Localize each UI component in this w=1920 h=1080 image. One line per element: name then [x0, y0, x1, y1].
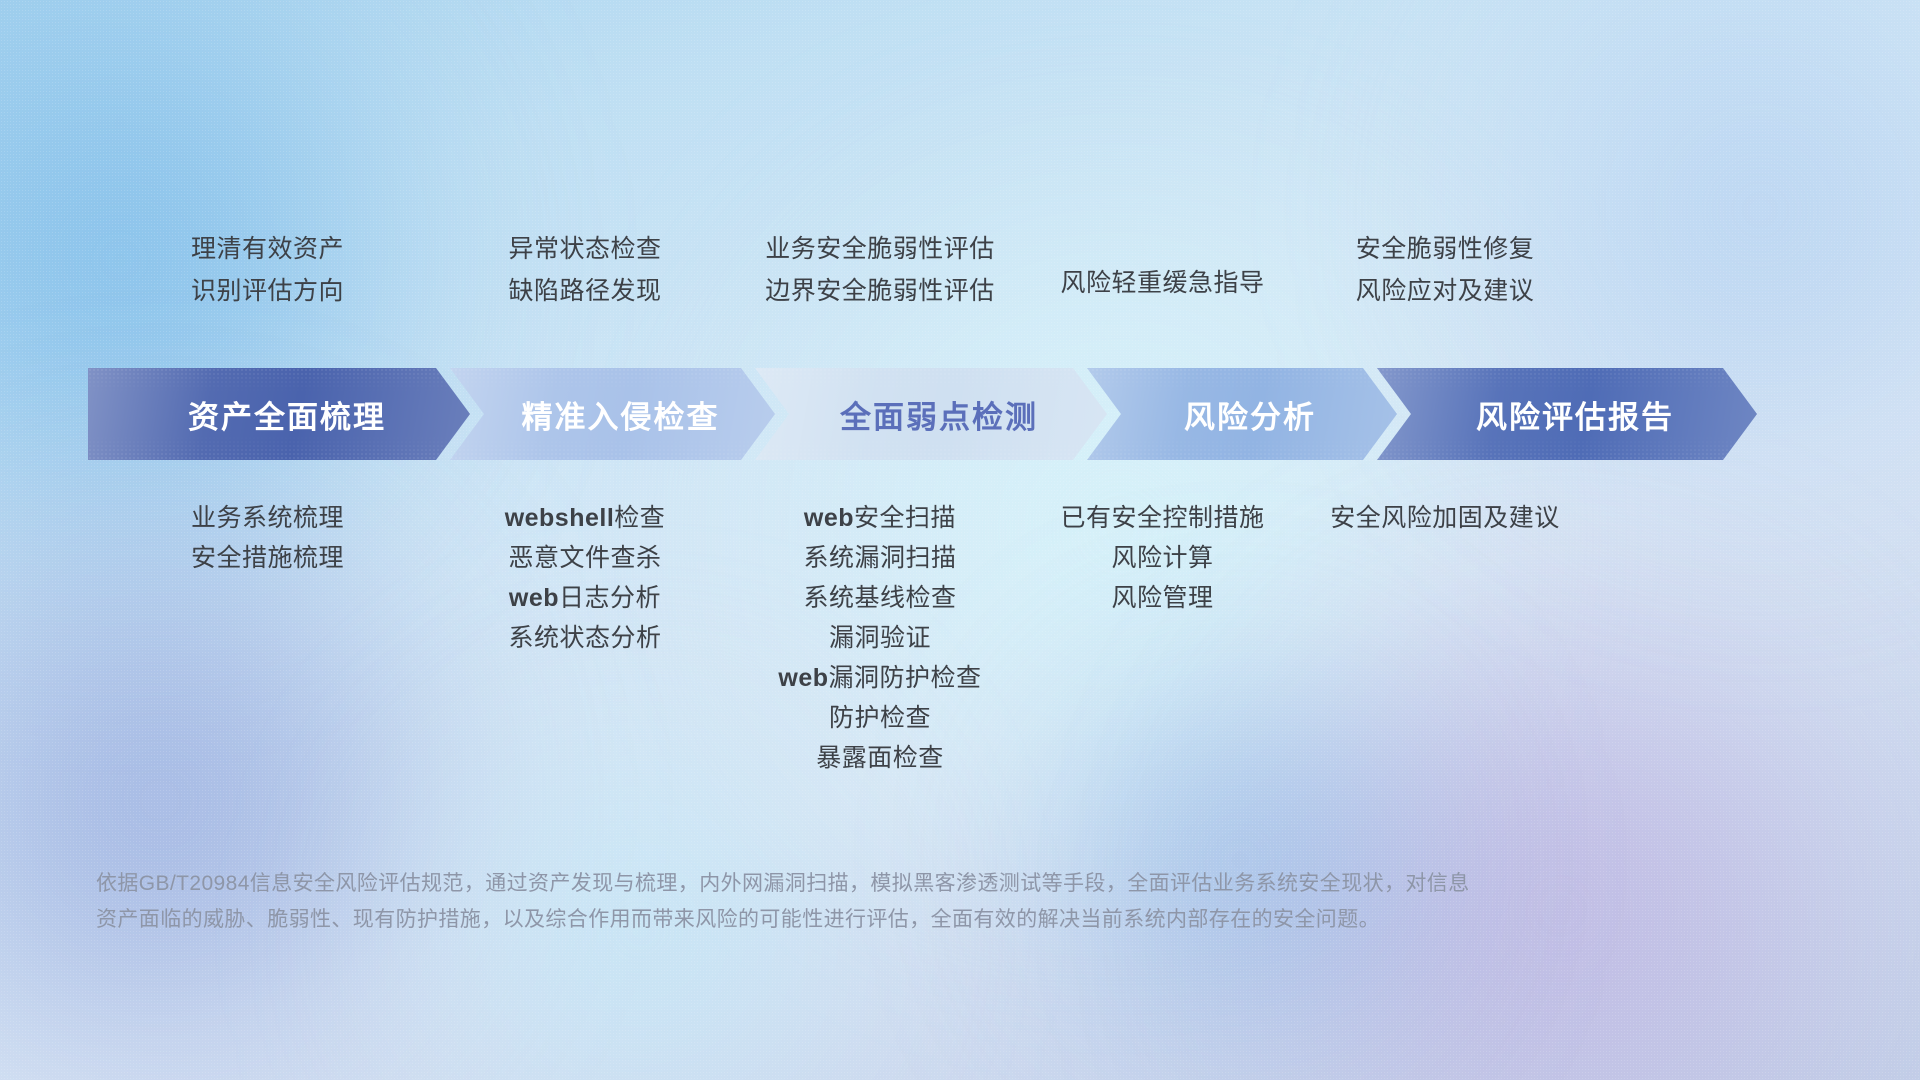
- detail-item: 风险计算: [1030, 538, 1295, 578]
- chevron-step-5-label: 风险评估报告: [1460, 392, 1674, 437]
- detail-item: 暴露面检查: [730, 738, 1030, 778]
- detail-item: 风险管理: [1030, 578, 1295, 618]
- detail-item: web漏洞防护检查: [730, 658, 1030, 698]
- detail-item: webshell检查: [440, 498, 730, 538]
- top-annotations-step-4: 风险轻重缓急指导: [1030, 228, 1295, 312]
- detail-item: 系统基线检查: [730, 578, 1030, 618]
- top-annotations-step-3: 业务安全脆弱性评估 边界安全脆弱性评估: [730, 228, 1030, 312]
- detail-item: web安全扫描: [730, 498, 1030, 538]
- process-diagram: 理清有效资产 识别评估方向 异常状态检查 缺陷路径发现 业务安全脆弱性评估 边界…: [0, 0, 1920, 1080]
- detail-list-step-5: 安全风险加固及建议: [1295, 498, 1595, 538]
- detail-list-step-3: web安全扫描系统漏洞扫描系统基线检查漏洞验证web漏洞防护检查防护检查暴露面检…: [730, 498, 1030, 778]
- bottom-details-row: 业务系统梳理安全措施梳理 webshell检查恶意文件查杀web日志分析系统状态…: [95, 498, 1865, 778]
- top-annotation: 识别评估方向: [95, 270, 440, 312]
- top-annotation: 风险轻重缓急指导: [1030, 262, 1295, 304]
- detail-item: 安全风险加固及建议: [1295, 498, 1595, 538]
- top-annotation: 缺陷路径发现: [440, 270, 730, 312]
- detail-item: 漏洞验证: [730, 618, 1030, 658]
- detail-list-step-4: 已有安全控制措施风险计算风险管理: [1030, 498, 1295, 618]
- footer-description: 依据GB/T20984信息安全风险评估规范，通过资产发现与梳理，内外网漏洞扫描，…: [96, 866, 1736, 938]
- chevron-step-1[interactable]: 资产全面梳理: [88, 368, 470, 460]
- bottom-details-step-4: 已有安全控制措施风险计算风险管理: [1030, 498, 1295, 618]
- bottom-details-step-2: webshell检查恶意文件查杀web日志分析系统状态分析: [440, 498, 730, 658]
- chevron-step-2[interactable]: 精准入侵检查: [450, 368, 775, 460]
- chevron-step-3[interactable]: 全面弱点检测: [755, 368, 1107, 460]
- top-annotation: 风险应对及建议: [1295, 270, 1595, 312]
- top-annotation: 业务安全脆弱性评估: [730, 228, 1030, 270]
- top-annotation: 异常状态检查: [440, 228, 730, 270]
- chevron-step-4[interactable]: 风险分析: [1087, 368, 1397, 460]
- detail-item: 恶意文件查杀: [440, 538, 730, 578]
- bottom-details-step-3: web安全扫描系统漏洞扫描系统基线检查漏洞验证web漏洞防护检查防护检查暴露面检…: [730, 498, 1030, 778]
- detail-item: 防护检查: [730, 698, 1030, 738]
- chevron-step-2-label: 精准入侵检查: [506, 392, 720, 437]
- footer-line-2: 资产面临的威胁、脆弱性、现有防护措施，以及综合作用而带来风险的可能性进行评估，全…: [96, 902, 1736, 938]
- detail-list-step-2: webshell检查恶意文件查杀web日志分析系统状态分析: [440, 498, 730, 658]
- chevron-step-1-label: 资产全面梳理: [172, 392, 386, 437]
- top-annotation: 安全脆弱性修复: [1295, 228, 1595, 270]
- top-annotation: 理清有效资产: [95, 228, 440, 270]
- detail-item: 系统状态分析: [440, 618, 730, 658]
- detail-item: 已有安全控制措施: [1030, 498, 1295, 538]
- process-chevron-band: 资产全面梳理 精准入侵检查 全面弱点检测 风险分析 风险评估报告: [88, 368, 1848, 460]
- chevron-step-4-label: 风险分析: [1168, 392, 1316, 437]
- bottom-details-step-1: 业务系统梳理安全措施梳理: [95, 498, 440, 578]
- bottom-details-step-5: 安全风险加固及建议: [1295, 498, 1595, 538]
- detail-item: 系统漏洞扫描: [730, 538, 1030, 578]
- top-annotations-step-2: 异常状态检查 缺陷路径发现: [440, 228, 730, 312]
- top-annotations-step-5: 安全脆弱性修复 风险应对及建议: [1295, 228, 1595, 312]
- detail-list-step-1: 业务系统梳理安全措施梳理: [95, 498, 440, 578]
- detail-item: 业务系统梳理: [95, 498, 440, 538]
- chevron-step-3-label: 全面弱点检测: [824, 392, 1038, 437]
- top-annotations-row: 理清有效资产 识别评估方向 异常状态检查 缺陷路径发现 业务安全脆弱性评估 边界…: [95, 228, 1865, 312]
- detail-item: 安全措施梳理: [95, 538, 440, 578]
- detail-item: web日志分析: [440, 578, 730, 618]
- chevron-step-5[interactable]: 风险评估报告: [1377, 368, 1757, 460]
- top-annotation: 边界安全脆弱性评估: [730, 270, 1030, 312]
- top-annotations-step-1: 理清有效资产 识别评估方向: [95, 228, 440, 312]
- footer-line-1: 依据GB/T20984信息安全风险评估规范，通过资产发现与梳理，内外网漏洞扫描，…: [96, 866, 1736, 902]
